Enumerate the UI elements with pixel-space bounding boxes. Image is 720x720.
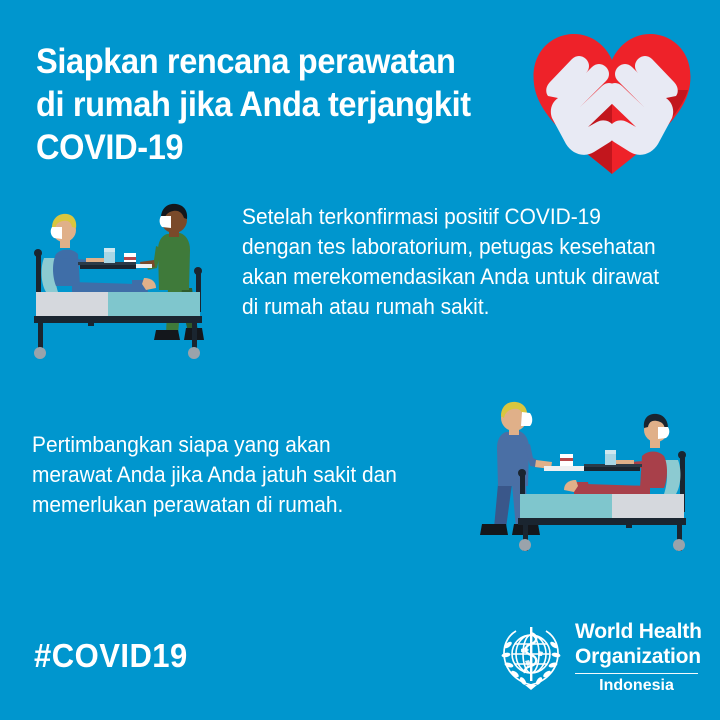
- paragraph-two-line-3: memerlukan perawatan di rumah.: [32, 490, 431, 520]
- paragraph-one-line-1: Setelah terkonfirmasi positif COVID-19: [242, 202, 689, 232]
- who-wordmark: World Health Organization Indonesia: [575, 619, 700, 695]
- who-emblem-icon: [495, 621, 567, 693]
- patient-torso: [53, 250, 80, 287]
- scene-one-illustration: [28, 196, 240, 362]
- headline-line-3: COVID-19: [36, 126, 501, 169]
- mattress-pillow-section: [36, 292, 108, 318]
- poster-canvas: Siapkan rencana perawatan di rumah jika …: [0, 0, 720, 720]
- paragraph-two-line-1: Pertimbangkan siapa yang akan: [32, 430, 431, 460]
- paragraph-one: Setelah terkonfirmasi positif COVID-19 d…: [242, 202, 689, 322]
- who-name-line-2: Organization: [575, 644, 700, 669]
- bed-rail: [34, 316, 202, 323]
- hashtag-covid19: #COVID19: [34, 637, 188, 675]
- paragraph-one-line-3: akan merekomendasikan Anda untuk dirawat: [242, 262, 689, 292]
- paragraph-two-line-2: merawat Anda jika Anda jatuh sakit dan: [32, 460, 431, 490]
- patient-mask: [658, 427, 669, 439]
- bed-caster-left: [519, 539, 531, 551]
- page-title: Siapkan rencana perawatan di rumah jika …: [36, 40, 501, 169]
- bed-caster-right: [188, 347, 200, 359]
- paragraph-one-line-4: di rumah atau rumah sakit.: [242, 292, 689, 322]
- patient-torso: [640, 452, 667, 489]
- paragraph-two: Pertimbangkan siapa yang akan merawat An…: [32, 430, 431, 520]
- paragraph-one-line-2: dengan tes laboratorium, petugas kesehat…: [242, 232, 689, 262]
- who-logo: World Health Organization Indonesia: [495, 619, 700, 701]
- scene-two-illustration: [468, 396, 694, 554]
- patient-blue-figure: [51, 214, 156, 294]
- bed-caster-left: [34, 347, 46, 359]
- headline-line-1: Siapkan rencana perawatan: [36, 40, 501, 83]
- mattress-pillow-section: [612, 494, 684, 520]
- bed-caster-right: [673, 539, 685, 551]
- patient-red-figure: [564, 414, 669, 496]
- mattress: [520, 494, 612, 520]
- patient-mask: [51, 227, 62, 239]
- heart-with-hands-illustration: [528, 28, 696, 176]
- face-mask: [521, 412, 532, 426]
- who-country-label: Indonesia: [575, 677, 698, 695]
- mattress: [108, 292, 200, 318]
- who-divider: [575, 673, 698, 674]
- bed-rail: [518, 518, 686, 525]
- headline-line-2: di rumah jika Anda terjangkit: [36, 83, 501, 126]
- face-mask: [160, 216, 171, 228]
- who-name-line-1: World Health: [575, 619, 700, 644]
